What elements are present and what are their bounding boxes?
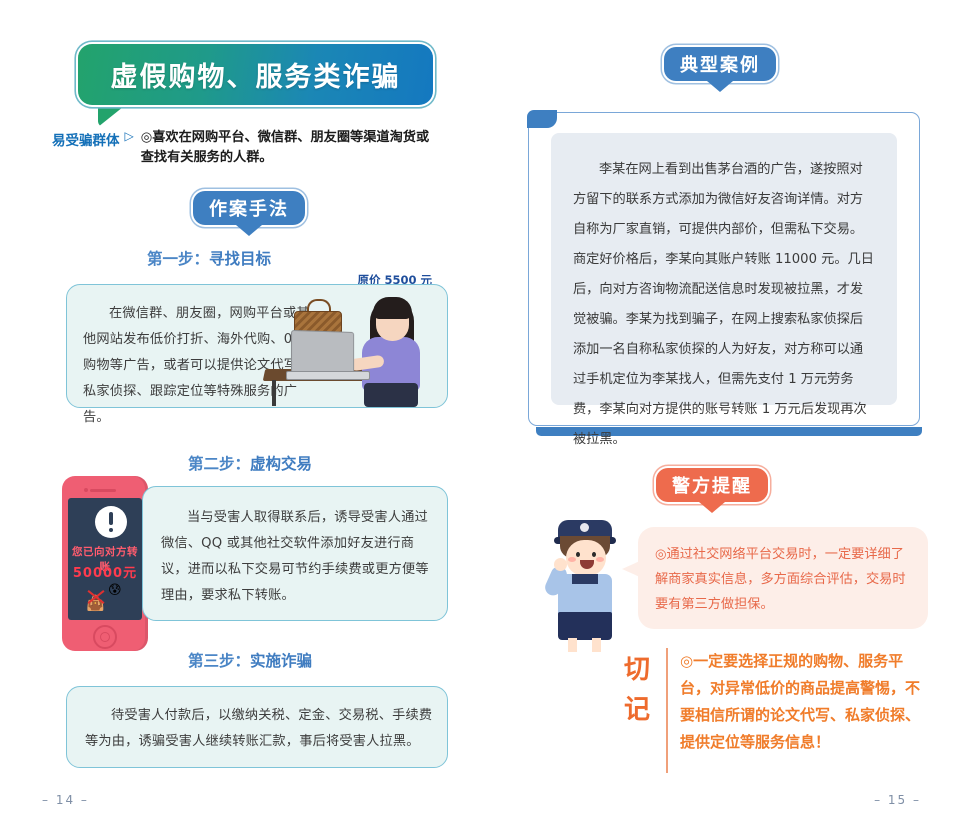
remember-label: 切记 <box>612 650 662 730</box>
woman-skirt <box>364 383 418 407</box>
laptop-base <box>286 371 370 380</box>
page-number-left: – 14 – <box>42 793 89 807</box>
officer-hat-badge-icon <box>580 523 589 532</box>
step-2-prefix: 第二步： <box>188 454 250 473</box>
officer-cheek-left <box>568 557 576 562</box>
step-heading-1: 第一步：寻找目标 <box>147 247 271 269</box>
method-tag-tail <box>236 225 262 236</box>
triangle-right-icon: ▷ <box>125 129 134 143</box>
case-tag-bubble: 典型案例 <box>664 47 776 81</box>
victim-group-text: ◎喜欢在网购平台、微信群、朋友圈等渠道淘货或查找有关服务的人群。 <box>141 128 441 168</box>
officer-collar <box>572 574 598 584</box>
worried-face-icon: 😰 <box>108 582 122 598</box>
case-tag-tail <box>707 81 733 92</box>
officer-saluting-hand <box>554 558 567 571</box>
main-title-bubble: 虚假购物、服务类诈骗 <box>78 44 433 105</box>
police-advice-bubble: ◎通过社交网络平台交易时，一定要详细了解商家真实信息，多方面综合评估，交易时要有… <box>638 527 928 629</box>
step-2-body: 当与受害人取得联系后，诱导受害人通过微信、QQ 或其他社交软件添加好友进行商议，… <box>161 505 429 609</box>
alert-dot <box>109 528 113 532</box>
police-officer-illustration <box>530 516 640 648</box>
officer-leg-right <box>592 638 601 652</box>
method-tag-bubble: 作案手法 <box>193 191 305 225</box>
alert-exclamation-icon <box>95 506 127 538</box>
page-number-right: – 15 – <box>874 793 921 807</box>
police-tag-tail <box>699 502 725 513</box>
step-2-name: 虚构交易 <box>250 455 312 473</box>
phone-transfer-amount: 50000元 <box>68 562 142 581</box>
police-tag-bubble: 警方提醒 <box>656 468 768 502</box>
alert-bar <box>109 512 113 525</box>
officer-cheek-right <box>596 557 604 562</box>
step-3-prefix: 第三步： <box>188 651 250 670</box>
case-tag-label: 典型案例 <box>680 51 760 77</box>
step-heading-3: 第三步：实施诈骗 <box>188 649 312 671</box>
phone-home-inner <box>100 632 110 642</box>
step-heading-2: 第二步：虚构交易 <box>188 452 312 474</box>
phone-illustration: 您已向对方转账 50000元 😰 👜 <box>62 476 148 651</box>
woman-laptop-illustration <box>258 285 456 407</box>
step-1-prefix: 第一步： <box>147 249 209 268</box>
victim-group-row: 易受骗群体 ▷ ◎喜欢在网购平台、微信群、朋友圈等渠道淘货或查找有关服务的人群。 <box>52 128 452 168</box>
step-3-name: 实施诈骗 <box>250 652 312 670</box>
remember-divider <box>666 648 668 773</box>
police-advice-text: ◎通过社交网络平台交易时，一定要详细了解商家真实信息，多方面综合评估，交易时要有… <box>655 542 913 617</box>
phone-home-button <box>93 625 117 649</box>
case-body-text: 李某在网上看到出售茅台酒的广告，遂按照对方留下的联系方式添加为微信好友咨询详情。… <box>573 155 875 455</box>
woman-hair-front <box>373 297 412 319</box>
main-title-bubble-tail <box>98 103 128 127</box>
main-title-text: 虚假购物、服务类诈骗 <box>111 55 401 94</box>
phone-screen: 您已向对方转账 50000元 😰 👜 <box>68 498 142 620</box>
method-tag-label: 作案手法 <box>209 195 289 221</box>
step-3-body: 待受害人付款后，以缴纳关税、定金、交易税、手续费等为由，诱骗受害人继续转账汇款，… <box>85 703 433 755</box>
victim-group-label: 易受骗群体 <box>52 128 120 149</box>
police-tag-label: 警方提醒 <box>672 472 752 498</box>
officer-leg-left <box>568 638 577 652</box>
step-1-name: 寻找目标 <box>209 250 271 268</box>
officer-eye-right <box>592 552 596 557</box>
case-card: 李某在网上看到出售茅台酒的广告，遂按照对方留下的联系方式添加为微信好友咨询详情。… <box>528 112 920 426</box>
officer-skirt <box>558 612 612 640</box>
officer-eye-left <box>576 552 580 557</box>
phone-speaker <box>90 489 116 492</box>
case-card-corner-tab <box>527 110 557 128</box>
brochure-page: 虚假购物、服务类诈骗 易受骗群体 ▷ ◎喜欢在网购平台、微信群、朋友圈等渠道淘货… <box>0 0 971 829</box>
case-card-inner-panel: 李某在网上看到出售茅台酒的广告，遂按照对方留下的联系方式添加为微信好友咨询详情。… <box>551 133 897 405</box>
phone-camera <box>84 488 88 492</box>
step-3-card: 待受害人付款后，以缴纳关税、定金、交易税、手续费等为由，诱骗受害人继续转账汇款，… <box>66 686 448 768</box>
desk-leg-left <box>272 380 276 406</box>
step-2-card: 当与受害人取得联系后，诱导受害人通过微信、QQ 或其他社交软件添加好友进行商议，… <box>142 486 448 621</box>
remember-text: ◎一定要选择正规的购物、服务平台，对异常低价的商品提高警惕，不要相信所谓的论文代… <box>680 648 924 756</box>
